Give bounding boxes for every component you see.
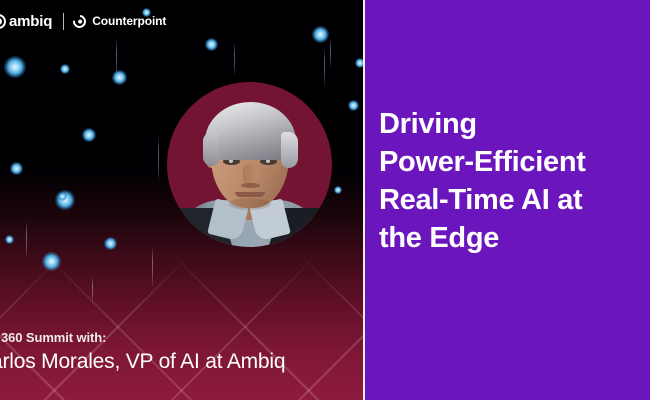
glow-particle	[334, 186, 342, 194]
glow-particle	[58, 192, 67, 201]
ambiq-circle-mark-icon	[0, 14, 6, 29]
glow-particle	[82, 128, 96, 142]
light-streak	[26, 220, 27, 260]
glow-particle	[348, 100, 359, 111]
glow-particle	[10, 162, 23, 175]
hair-side-right	[281, 132, 298, 168]
headline-line-2: Power-Efficient	[379, 144, 647, 182]
webinar-promo-graphic: ambiq Counterpoint I 360 Summit with: ar…	[0, 0, 650, 400]
glow-particle	[5, 235, 14, 244]
headline-line-1: Driving	[379, 106, 647, 144]
counterpoint-wordmark: Counterpoint	[92, 14, 166, 28]
page-title: DrivingPower-EfficientReal-Time AI atthe…	[379, 106, 647, 258]
brand-divider	[63, 13, 64, 30]
headline-line-4: the Edge	[379, 220, 647, 258]
light-streak	[330, 38, 331, 68]
glow-particle	[355, 58, 363, 68]
ambiq-logo: ambiq	[0, 13, 52, 30]
hair-side-left	[203, 132, 219, 166]
ambiq-wordmark: ambiq	[9, 13, 52, 30]
counterpoint-circle-mark-icon	[71, 12, 89, 30]
portrait-circle	[167, 82, 332, 247]
counterpoint-logo: Counterpoint	[73, 14, 166, 28]
headline-line-3: Real-Time AI at	[379, 182, 647, 220]
light-streak	[92, 276, 93, 304]
chin-shading	[229, 198, 271, 210]
brand-lockup-bar: ambiq Counterpoint	[0, 8, 166, 34]
light-streak	[234, 42, 235, 76]
glow-particle	[312, 26, 329, 43]
headshot-illustration	[167, 82, 332, 247]
right-purple-panel: DrivingPower-EfficientReal-Time AI atthe…	[365, 0, 650, 400]
light-streak	[116, 38, 117, 80]
left-dark-panel: ambiq Counterpoint I 360 Summit with: ar…	[0, 0, 363, 400]
light-streak	[158, 136, 159, 182]
diagonal-crosshatch-pattern	[0, 250, 363, 400]
glow-particle	[42, 252, 61, 271]
glow-particle	[205, 38, 218, 51]
glow-particle	[60, 64, 70, 74]
light-streak	[152, 246, 153, 288]
glow-particle	[104, 237, 117, 250]
caption-speaker-name: arlos Morales, VP of AI at Ambiq	[0, 350, 363, 374]
caption-kicker: I 360 Summit with:	[0, 330, 363, 345]
glow-particle	[112, 70, 127, 85]
caption-block: I 360 Summit with: arlos Morales, VP of …	[0, 330, 363, 374]
nostril-shading	[241, 183, 260, 188]
mouth-shape	[235, 192, 265, 197]
glow-particle	[4, 56, 26, 78]
